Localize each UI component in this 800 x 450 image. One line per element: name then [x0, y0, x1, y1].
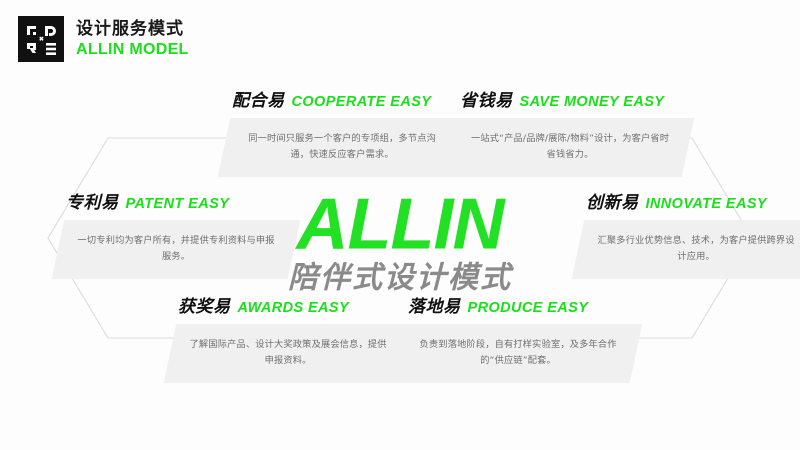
header-text-group: 设计服务模式 ALLIN MODEL	[76, 19, 189, 59]
feature-body-panel-innovate: 汇聚多行业优势信息、技术，为客户提供跨界设计应用。	[572, 220, 800, 279]
feature-title-en-patent: PATENT EASY	[126, 196, 230, 212]
feature-header-innovate: 创新易 INNOVATE EASY	[578, 188, 800, 213]
feature-title-en-save-money: SAVE MONEY EASY	[520, 94, 665, 110]
feature-body-text-innovate: 汇聚多行业优势信息、技术，为客户提供跨界设计应用。	[594, 233, 798, 265]
feature-node-innovate[interactable]: 创新易 INNOVATE EASY 汇聚多行业优势信息、技术，为客户提供跨界设计…	[578, 188, 800, 279]
feature-title-en-awards: AWARDS EASY	[238, 300, 350, 316]
slide-canvas: 设计服务模式 ALLIN MODEL ALLIN 陪伴式设计模式 配合易 COO…	[0, 0, 800, 450]
allin-square-logo-icon	[18, 16, 64, 62]
feature-title-cn-save-money: 省钱易	[460, 86, 513, 111]
feature-body-text-save-money: 一站式“产品/品牌/展陈/物料”设计，为客户省时省钱省力。	[468, 131, 672, 163]
feature-header-awards: 获奖易 AWARDS EASY	[170, 292, 406, 317]
slide-header: 设计服务模式 ALLIN MODEL	[18, 16, 189, 62]
feature-body-text-produce: 负责到落地阶段，自有打样实验室，及多年合作的“供应链”配套。	[416, 337, 620, 369]
feature-body-panel-patent: 一切专利均为客户所有，并提供专利资料与申报服务。	[52, 220, 300, 279]
feature-node-cooperate[interactable]: 配合易 COOPERATE EASY 同一时间只服务一个客户的专项组，多节点沟通…	[224, 86, 460, 177]
feature-node-save-money[interactable]: 省钱易 SAVE MONEY EASY 一站式“产品/品牌/展陈/物料”设计，为…	[452, 86, 688, 177]
feature-body-text-awards: 了解国际产品、设计大奖政策及展会信息，提供申报资料。	[186, 337, 390, 369]
feature-title-cn-patent: 专利易	[66, 188, 119, 213]
feature-node-patent[interactable]: 专利易 PATENT EASY 一切专利均为客户所有，并提供专利资料与申报服务。	[58, 188, 294, 279]
feature-header-save-money: 省钱易 SAVE MONEY EASY	[452, 86, 688, 111]
header-title-en: ALLIN MODEL	[76, 41, 189, 59]
feature-title-en-cooperate: COOPERATE EASY	[292, 94, 432, 110]
feature-body-text-patent: 一切专利均为客户所有，并提供专利资料与申报服务。	[74, 233, 278, 265]
feature-title-cn-cooperate: 配合易	[232, 86, 285, 111]
feature-node-produce[interactable]: 落地易 PRODUCE EASY 负责到落地阶段，自有打样实验室，及多年合作的“…	[400, 292, 636, 383]
feature-title-cn-innovate: 创新易	[586, 188, 639, 213]
feature-header-cooperate: 配合易 COOPERATE EASY	[224, 86, 460, 111]
feature-body-panel-awards: 了解国际产品、设计大奖政策及展会信息，提供申报资料。	[164, 324, 412, 383]
feature-body-panel-save-money: 一站式“产品/品牌/展陈/物料”设计，为客户省时省钱省力。	[446, 118, 694, 177]
feature-title-cn-awards: 获奖易	[178, 292, 231, 317]
feature-header-patent: 专利易 PATENT EASY	[58, 188, 294, 213]
header-title-cn: 设计服务模式	[76, 19, 189, 39]
feature-header-produce: 落地易 PRODUCE EASY	[400, 292, 636, 317]
feature-title-en-produce: PRODUCE EASY	[468, 300, 589, 316]
feature-body-text-cooperate: 同一时间只服务一个客户的专项组，多节点沟通，快速反应客户需求。	[240, 131, 444, 163]
feature-body-panel-produce: 负责到落地阶段，自有打样实验室，及多年合作的“供应链”配套。	[394, 324, 642, 383]
feature-title-en-innovate: INNOVATE EASY	[646, 196, 767, 212]
feature-body-panel-cooperate: 同一时间只服务一个客户的专项组，多节点沟通，快速反应客户需求。	[218, 118, 466, 177]
feature-node-awards[interactable]: 获奖易 AWARDS EASY 了解国际产品、设计大奖政策及展会信息，提供申报资…	[170, 292, 406, 383]
feature-title-cn-produce: 落地易	[408, 292, 461, 317]
